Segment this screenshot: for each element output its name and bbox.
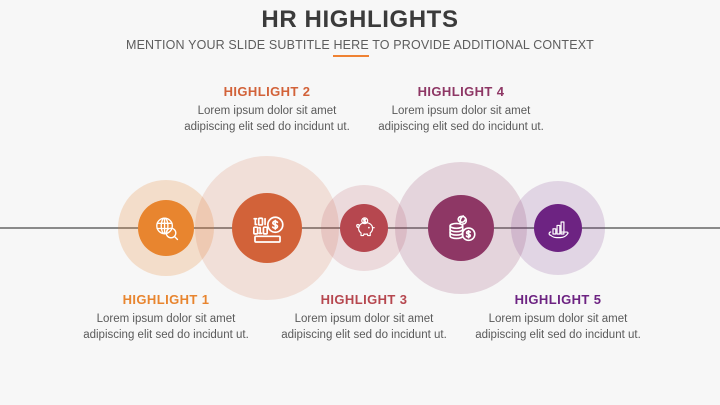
highlight-body-5: Lorem ipsum dolor sit amet adipiscing el… [463, 312, 653, 343]
slide-root: HR HIGHLIGHTS MENTION YOUR SLIDE SUBTITL… [0, 0, 720, 405]
subtitle-text-before: MENTION YOUR SLIDE SUBTITLE [126, 38, 333, 52]
highlight-label-1: HIGHLIGHT 1 [71, 292, 261, 307]
highlight-body-4: Lorem ipsum dolor sit amet adipiscing el… [366, 104, 556, 135]
highlight-body-3: Lorem ipsum dolor sit amet adipiscing el… [269, 312, 459, 343]
globe-search-icon [151, 213, 182, 244]
icon-circle-3[interactable] [340, 204, 388, 252]
highlight-body-1: Lorem ipsum dolor sit amet adipiscing el… [71, 312, 261, 343]
highlight-label-5: HIGHLIGHT 5 [463, 292, 653, 307]
highlight-label-2: HIGHLIGHT 2 [172, 84, 362, 99]
highlight-label-3: HIGHLIGHT 3 [269, 292, 459, 307]
binary-money-icon [248, 209, 287, 248]
icon-circle-1[interactable] [138, 200, 194, 256]
highlight-label-4: HIGHLIGHT 4 [366, 84, 556, 99]
highlight-body-2: Lorem ipsum dolor sit amet adipiscing el… [172, 104, 362, 135]
highlight-block-2: HIGHLIGHT 2Lorem ipsum dolor sit amet ad… [172, 84, 362, 135]
icon-circle-2[interactable] [232, 193, 302, 263]
page-title: HR HIGHLIGHTS [0, 6, 720, 34]
piggy-bank-icon [351, 215, 378, 242]
coins-growth-icon [443, 210, 480, 247]
highlight-block-5: HIGHLIGHT 5Lorem ipsum dolor sit amet ad… [463, 292, 653, 343]
highlight-block-4: HIGHLIGHT 4Lorem ipsum dolor sit amet ad… [366, 84, 556, 135]
highlight-block-3: HIGHLIGHT 3Lorem ipsum dolor sit amet ad… [269, 292, 459, 343]
icon-circle-4[interactable] [428, 195, 494, 261]
hand-barchart-icon [545, 215, 572, 242]
icon-circle-5[interactable] [534, 204, 582, 252]
subtitle-highlight-word: HERE [333, 38, 368, 52]
subtitle-text-after: TO PROVIDE ADDITIONAL CONTEXT [369, 38, 594, 52]
highlight-block-1: HIGHLIGHT 1Lorem ipsum dolor sit amet ad… [71, 292, 261, 343]
page-subtitle: MENTION YOUR SLIDE SUBTITLE HERE TO PROV… [0, 38, 720, 52]
